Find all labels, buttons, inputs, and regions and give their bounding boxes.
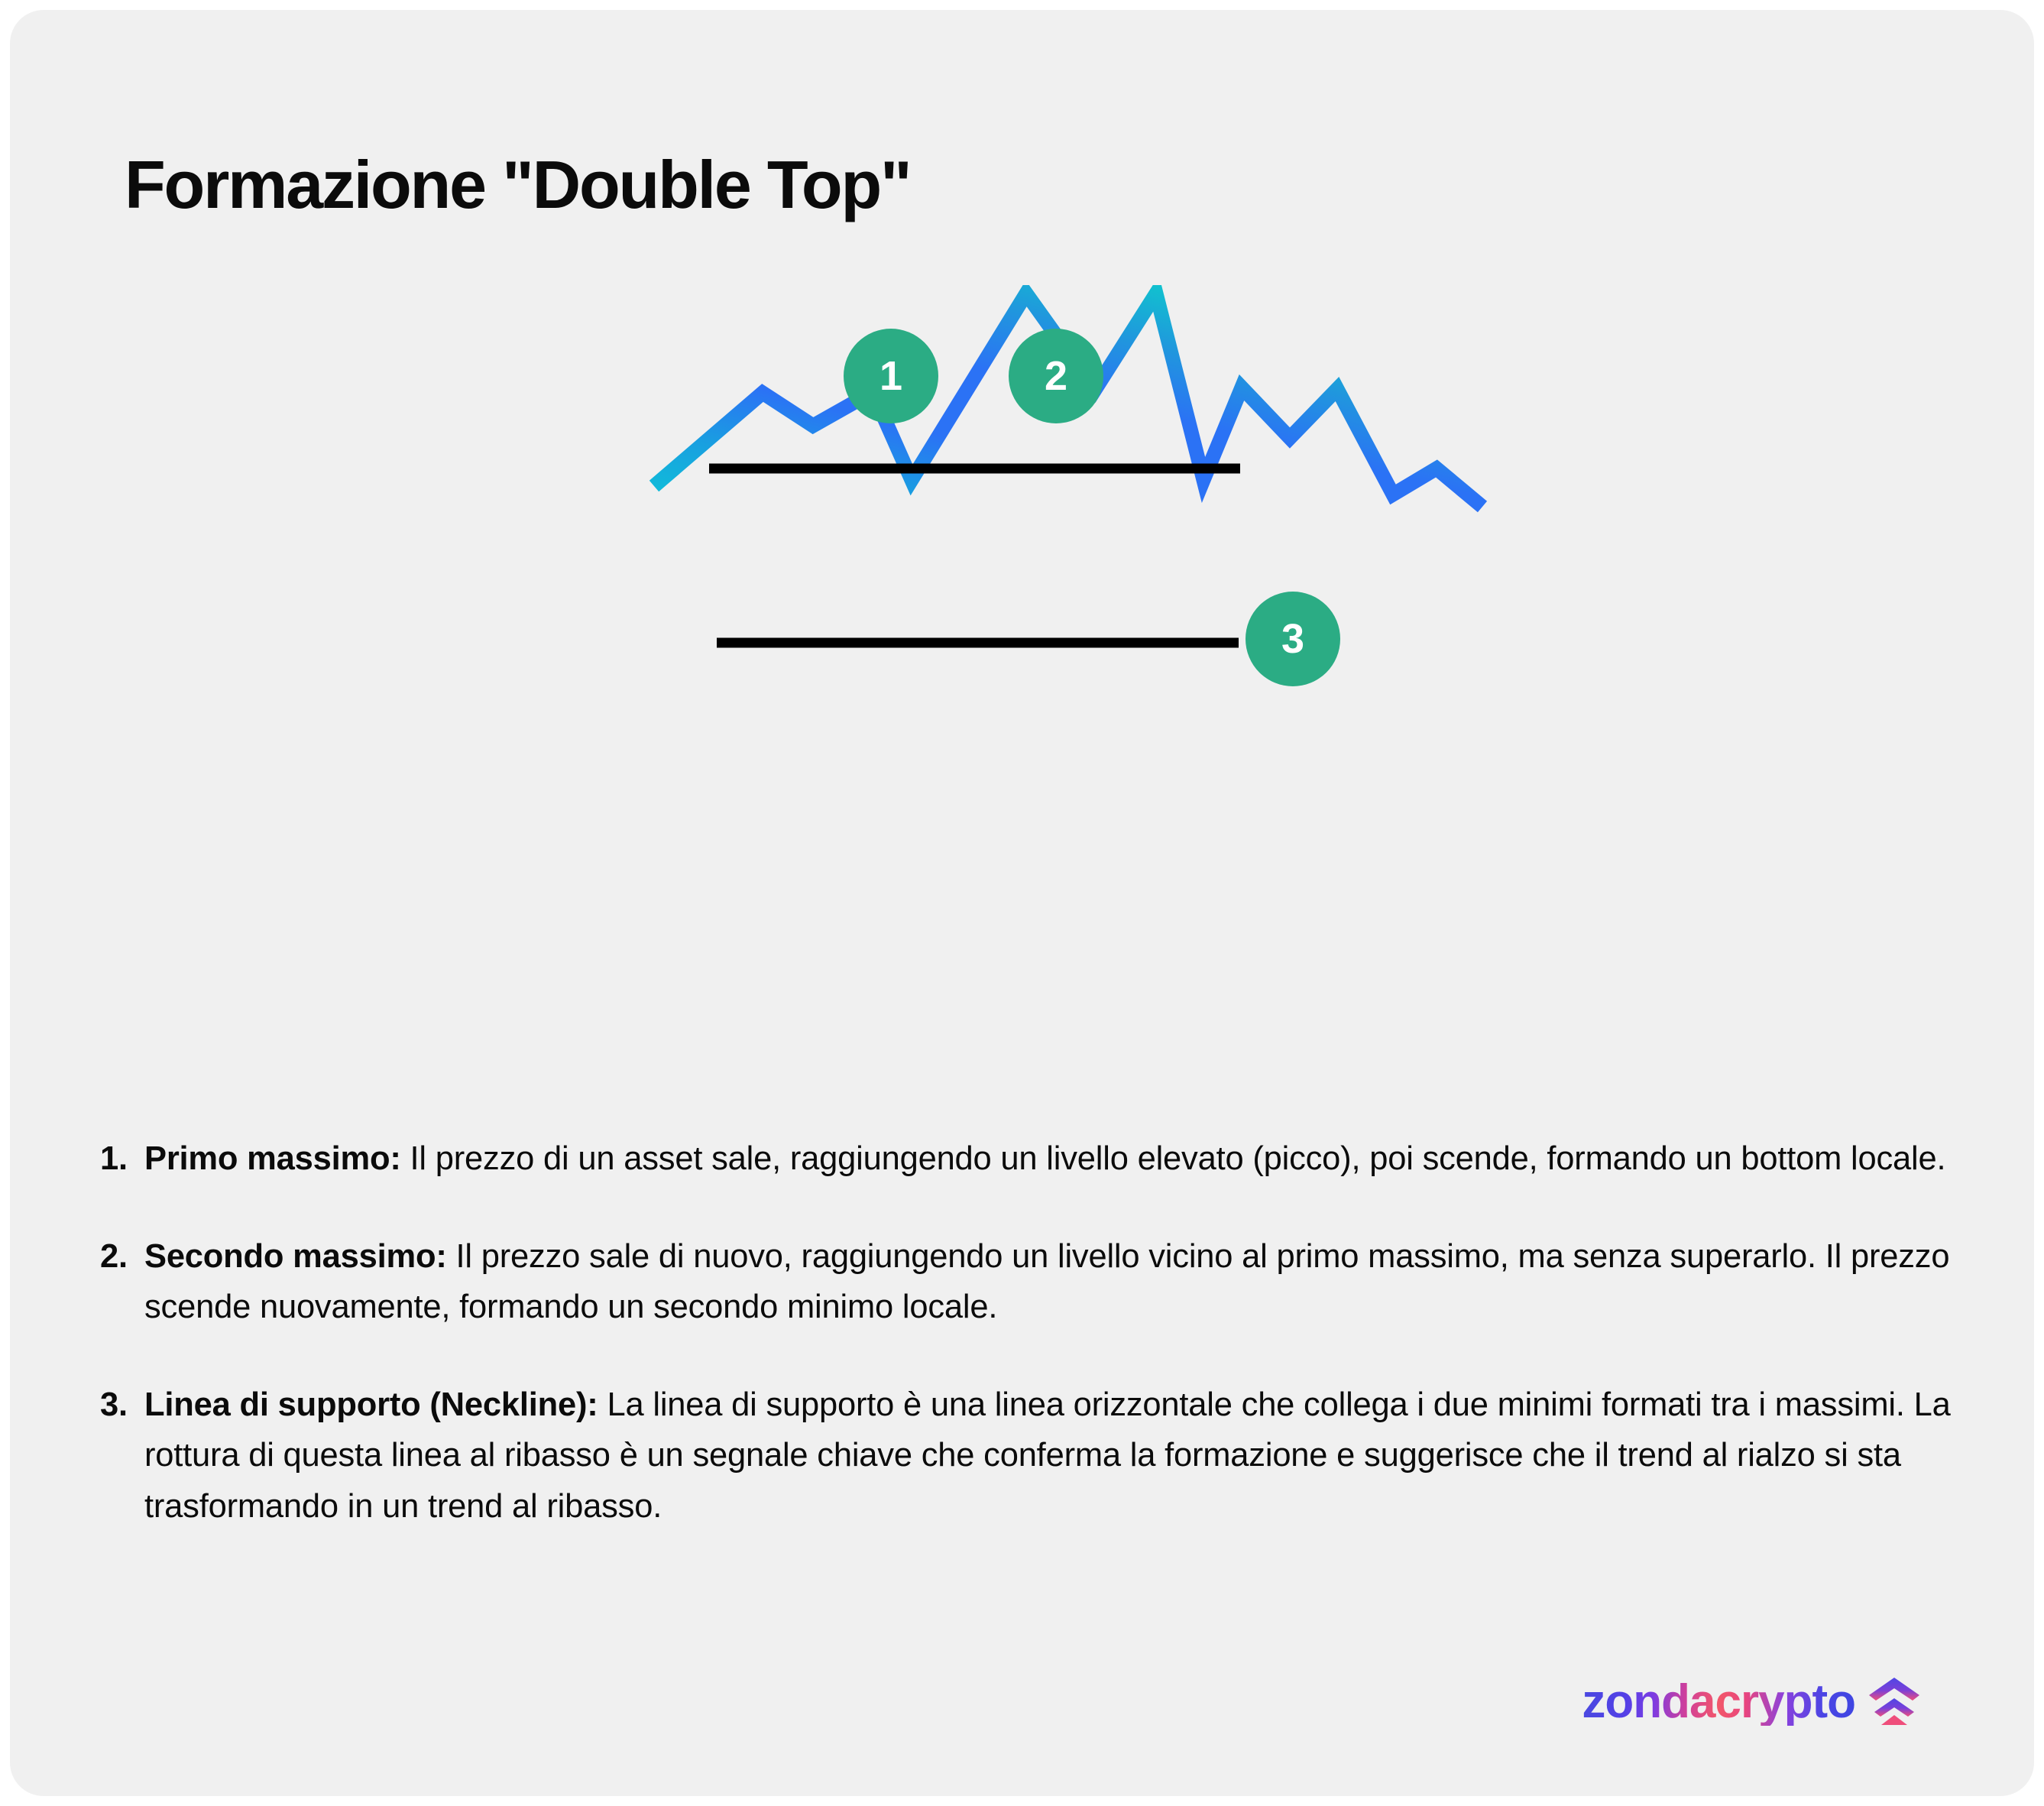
chart-marker-3: 3 bbox=[1246, 592, 1340, 686]
chart-marker-2-label: 2 bbox=[1045, 355, 1067, 397]
list-item-term: Linea di supporto (Neckline): bbox=[144, 1386, 598, 1423]
chart-marker-2: 2 bbox=[1009, 329, 1103, 423]
list-item-number: 3. bbox=[100, 1380, 144, 1430]
chart-marker-1-label: 1 bbox=[879, 355, 902, 397]
list-item-body: Primo massimo: Il prezzo di un asset sal… bbox=[144, 1133, 1957, 1184]
brand-wordmark: zondacrypto bbox=[1582, 1678, 1855, 1726]
description-list: 1. Primo massimo: Il prezzo di un asset … bbox=[100, 1133, 1957, 1532]
list-item-term: Primo massimo: bbox=[144, 1140, 401, 1177]
list-item-text: Il prezzo di un asset sale, raggiungendo… bbox=[401, 1140, 1946, 1177]
zonda-chevron-icon bbox=[1866, 1675, 1923, 1729]
brand-logo: zondacrypto bbox=[1582, 1675, 1923, 1729]
page-title: Formazione "Double Top" bbox=[125, 148, 911, 222]
list-item-body: Secondo massimo: Il prezzo sale di nuovo… bbox=[144, 1231, 1957, 1332]
double-top-chart: 1 2 3 bbox=[10, 285, 2034, 1095]
list-item: 3. Linea di supporto (Neckline): La line… bbox=[100, 1380, 1957, 1531]
list-item-number: 2. bbox=[100, 1231, 144, 1282]
list-item: 2. Secondo massimo: Il prezzo sale di nu… bbox=[100, 1231, 1957, 1332]
list-item-body: Linea di supporto (Neckline): La linea d… bbox=[144, 1380, 1957, 1531]
list-item-term: Secondo massimo: bbox=[144, 1238, 447, 1275]
chart-marker-3-label: 3 bbox=[1281, 618, 1304, 660]
list-item-number: 1. bbox=[100, 1133, 144, 1184]
infographic-card: Formazione "Double Top" bbox=[10, 10, 2034, 1796]
chart-marker-1: 1 bbox=[844, 329, 938, 423]
list-item: 1. Primo massimo: Il prezzo di un asset … bbox=[100, 1133, 1957, 1184]
